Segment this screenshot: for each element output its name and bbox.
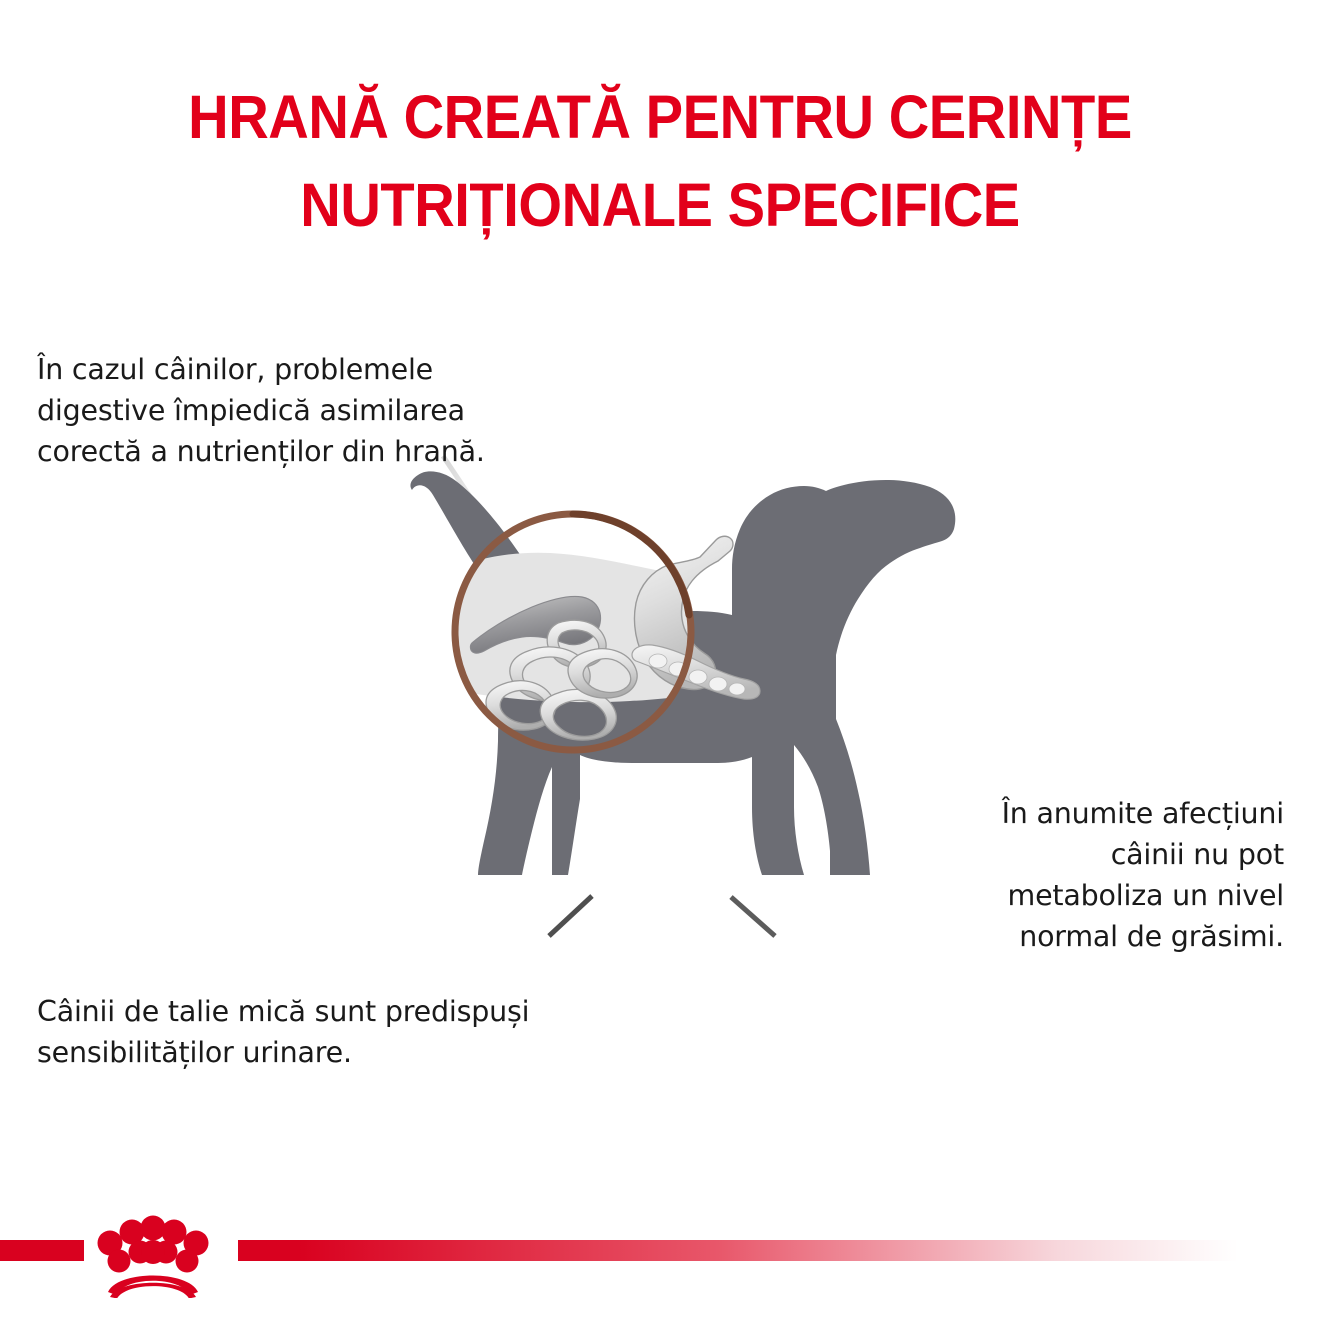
footer-bar-left [0,1240,84,1261]
royal-canin-crown-icon [88,1212,218,1298]
page-title: HRANĂ CREATĂ PENTRU CERINȚE NUTRIȚIONALE… [53,73,1267,250]
footer-bar-right [238,1240,1238,1261]
dog-illustration [400,455,980,915]
infographic-page: HRANĂ CREATĂ PENTRU CERINȚE NUTRIȚIONALE… [0,0,1320,1320]
callout-urinary-text: Câinii de talie mică sunt predispuși sen… [37,991,677,1073]
callout-digestive-text: În cazul câinilor, problemele digestive … [37,349,597,472]
